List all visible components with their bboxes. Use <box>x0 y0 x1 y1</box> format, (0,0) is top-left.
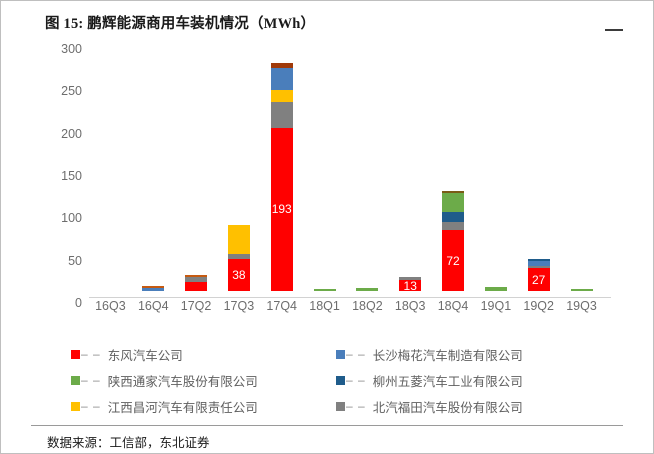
bar-value-label: 72 <box>442 255 464 267</box>
bar-group-18Q1[interactable]: 18Q1 <box>303 43 346 291</box>
bar-group-19Q3[interactable]: 19Q3 <box>560 43 603 291</box>
bar-segment[interactable]: 27 <box>528 268 550 291</box>
x-axis-tick: 18Q3 <box>395 299 426 313</box>
bar-segment[interactable] <box>271 102 293 127</box>
bar-segment[interactable] <box>442 212 464 222</box>
legend-color-swatch <box>71 376 80 385</box>
bar-segment-cap[interactable] <box>185 275 207 278</box>
bar-segment[interactable] <box>185 277 207 281</box>
x-axis-tick: 18Q1 <box>309 299 340 313</box>
bar-segment[interactable] <box>185 282 207 291</box>
bar-group-18Q3[interactable]: 1318Q3 <box>389 43 432 291</box>
bar-value-label: 193 <box>271 203 293 215</box>
legend-item[interactable]: – –北汽福田汽车股份有限公司 <box>336 397 591 416</box>
y-axis-tick: 300 <box>61 42 82 56</box>
bar-segment[interactable] <box>571 289 593 291</box>
legend-item-label: 东风汽车公司 <box>108 345 183 364</box>
legend-item-label: 陕西通家汽车股份有限公司 <box>108 371 258 390</box>
chart-container: 300250200150100500 16Q316Q417Q23817Q3193… <box>41 37 621 319</box>
legend-dash-icon: – – <box>346 347 366 361</box>
bar-group-17Q2[interactable]: 17Q2 <box>175 43 218 291</box>
stacked-bar[interactable]: 13 <box>399 277 421 291</box>
bar-segment[interactable]: 193 <box>271 128 293 291</box>
stacked-bar[interactable]: 38 <box>228 225 250 291</box>
stacked-bar[interactable] <box>314 289 336 291</box>
bar-segment[interactable] <box>142 288 164 291</box>
x-axis-tick: 17Q3 <box>224 299 255 313</box>
legend-item[interactable]: – –长沙梅花汽车制造有限公司 <box>336 345 591 364</box>
x-axis-tick: 19Q3 <box>566 299 597 313</box>
bar-group-16Q3[interactable]: 16Q3 <box>89 43 132 291</box>
bar-segment[interactable] <box>485 287 507 291</box>
bar-group-18Q4[interactable]: 7218Q4 <box>432 43 475 291</box>
page-title: 图 15: 鹏辉能源商用车装机情况（MWh） <box>45 12 315 33</box>
legend-dash-icon: – – <box>81 373 101 387</box>
header-rule-mark <box>605 29 623 31</box>
bar-segment[interactable] <box>271 68 293 91</box>
legend-color-swatch <box>336 376 345 385</box>
bar-value-label: 38 <box>228 269 250 281</box>
bar-group-17Q4[interactable]: 19317Q4 <box>260 43 303 291</box>
bar-segment[interactable] <box>228 225 250 254</box>
x-axis-tick: 17Q4 <box>266 299 297 313</box>
x-axis-tick: 16Q3 <box>95 299 126 313</box>
stacked-bar[interactable]: 72 <box>442 191 464 291</box>
bar-segment-cap[interactable] <box>142 286 164 288</box>
x-axis-tick: 18Q2 <box>352 299 383 313</box>
bar-segment[interactable] <box>314 289 336 291</box>
x-axis-tick: 17Q2 <box>181 299 212 313</box>
stacked-bar[interactable] <box>185 275 207 291</box>
bar-segment[interactable] <box>356 288 378 291</box>
bar-segment[interactable] <box>399 277 421 280</box>
stacked-bar[interactable]: 193 <box>271 63 293 291</box>
bar-group-17Q3[interactable]: 3817Q3 <box>217 43 260 291</box>
legend-item[interactable]: – –东风汽车公司 <box>71 345 336 364</box>
bar-segment[interactable] <box>228 254 250 259</box>
x-axis-tick: 16Q4 <box>138 299 169 313</box>
bar-group-19Q1[interactable]: 19Q1 <box>474 43 517 291</box>
y-axis-tick: 0 <box>75 296 82 310</box>
y-axis-tick: 100 <box>61 211 82 225</box>
axis-baseline <box>89 297 611 298</box>
x-axis-tick: 19Q1 <box>481 299 512 313</box>
chart-legend: – –东风汽车公司– –长沙梅花汽车制造有限公司– –陕西通家汽车股份有限公司–… <box>71 341 591 419</box>
bar-group-18Q2[interactable]: 18Q2 <box>346 43 389 291</box>
bar-segment[interactable] <box>442 193 464 212</box>
legend-color-swatch <box>71 350 80 359</box>
bar-segment[interactable]: 13 <box>399 280 421 291</box>
bar-segment[interactable] <box>271 90 293 102</box>
bar-value-label: 27 <box>528 274 550 286</box>
bar-value-label: 13 <box>399 280 421 292</box>
legend-dash-icon: – – <box>346 399 366 413</box>
legend-item-label: 北汽福田汽车股份有限公司 <box>373 397 523 416</box>
bar-segment-cap[interactable] <box>442 191 464 193</box>
plot-area: 300250200150100500 16Q316Q417Q23817Q3193… <box>89 43 603 291</box>
bar-segment[interactable] <box>528 259 550 261</box>
legend-item[interactable]: – –陕西通家汽车股份有限公司 <box>71 371 336 390</box>
legend-item[interactable]: – –江西昌河汽车有限责任公司 <box>71 397 336 416</box>
bar-segment[interactable] <box>528 261 550 266</box>
bar-segment[interactable]: 72 <box>442 230 464 291</box>
legend-dash-icon: – – <box>81 347 101 361</box>
figure-page: 图 15: 鹏辉能源商用车装机情况（MWh） 30025020015010050… <box>0 0 654 454</box>
x-axis-tick: 19Q2 <box>523 299 554 313</box>
legend-color-swatch <box>71 402 80 411</box>
bar-segment[interactable] <box>442 222 464 230</box>
y-axis-tick: 200 <box>61 127 82 141</box>
legend-item-label: 长沙梅花汽车制造有限公司 <box>373 345 523 364</box>
legend-dash-icon: – – <box>346 373 366 387</box>
stacked-bar[interactable] <box>485 287 507 291</box>
legend-item[interactable]: – –柳州五菱汽车工业有限公司 <box>336 371 591 390</box>
stacked-bar[interactable] <box>571 289 593 291</box>
y-axis-tick: 250 <box>61 84 82 98</box>
legend-color-swatch <box>336 350 345 359</box>
source-note: 数据来源：工信部，东北证券 <box>47 432 210 451</box>
stacked-bar[interactable]: 27 <box>528 259 550 291</box>
bar-group-19Q2[interactable]: 2719Q2 <box>517 43 560 291</box>
bar-segment[interactable] <box>528 266 550 269</box>
bar-segment[interactable]: 38 <box>228 259 250 291</box>
stacked-bar[interactable] <box>356 288 378 291</box>
footer-divider <box>31 425 623 426</box>
figure-header: 图 15: 鹏辉能源商用车装机情况（MWh） <box>1 7 653 37</box>
bar-series-group: 16Q316Q417Q23817Q319317Q418Q118Q21318Q37… <box>89 43 603 291</box>
y-axis-tick: 150 <box>61 169 82 183</box>
legend-item-label: 柳州五菱汽车工业有限公司 <box>373 371 523 390</box>
legend-color-swatch <box>336 402 345 411</box>
legend-dash-icon: – – <box>81 399 101 413</box>
bar-group-16Q4[interactable]: 16Q4 <box>132 43 175 291</box>
legend-item-label: 江西昌河汽车有限责任公司 <box>108 397 258 416</box>
y-axis-tick: 50 <box>68 254 82 268</box>
x-axis-tick: 18Q4 <box>438 299 469 313</box>
bar-segment-cap[interactable] <box>271 63 293 67</box>
stacked-bar[interactable] <box>142 286 164 291</box>
